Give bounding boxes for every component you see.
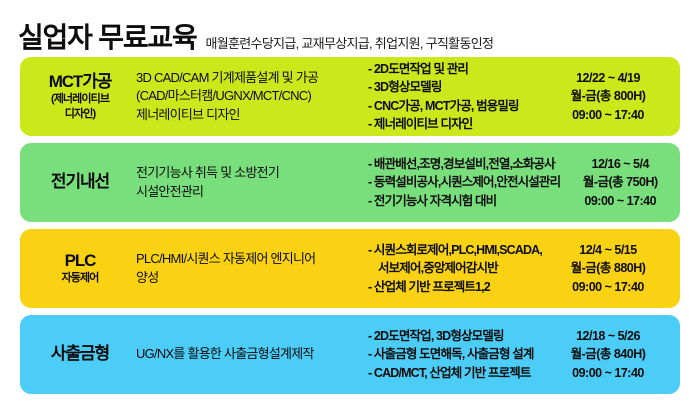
- course-title-block: PLC자동제어: [34, 251, 130, 286]
- course-curriculum-item: - 3D형상모델링: [368, 78, 548, 96]
- course-title-sub: 디자인): [34, 108, 126, 122]
- course-description-line: UG/NX를 활용한 사출금형설계제작: [136, 345, 362, 363]
- course-description-line: 전기기능사 취득 및 소방전기: [136, 164, 362, 182]
- page-title: 실업자 무료교육: [18, 24, 197, 52]
- course-title: 전기내선: [34, 172, 126, 192]
- course-schedule: 12/16 ~ 5/4월-금(총 750H)09:00 ~ 17:40: [560, 155, 680, 209]
- course-description-line: PLC/HMI/시퀀스 자동제어 엔지니어: [136, 250, 362, 268]
- course-title: MCT가공: [34, 72, 126, 92]
- course-description-line: 제너레이티브 디자인: [136, 106, 362, 124]
- course-schedule: 12/22 ~ 4/19월-금(총 800H)09:00 ~ 17:40: [548, 69, 672, 123]
- course-schedule-period: 12/22 ~ 4/19: [548, 69, 668, 87]
- course-schedule-days: 월-금(총 840H): [548, 345, 668, 363]
- course-card[interactable]: MCT가공(제너레이티브디자인)3D CAD/CAM 기계제품설계 및 가공(C…: [20, 57, 680, 136]
- course-title-block: 사출금형: [34, 344, 130, 364]
- course-schedule-days: 월-금(총 750H): [560, 173, 680, 191]
- course-schedule-period: 12/16 ~ 5/4: [560, 155, 680, 173]
- course-curriculum-item: - CNC가공, MCT가공, 범용밀링: [368, 97, 548, 115]
- course-title: 사출금형: [34, 344, 126, 364]
- course-curriculum-item: - 동력설비공사,시퀀스제어,안전시설관리: [368, 173, 560, 191]
- course-schedule-days: 월-금(총 880H): [548, 259, 668, 277]
- course-schedule-time: 09:00 ~ 17:40: [560, 192, 680, 210]
- course-title-block: 전기내선: [34, 172, 130, 192]
- course-schedule-days: 월-금(총 800H): [548, 87, 668, 105]
- course-curriculum-item: - 배관배선,조명,경보설비,전열,소화공사: [368, 155, 560, 173]
- course-curriculum-item: - 2D도면작업 및 관리: [368, 60, 548, 78]
- course-title-sub: 자동제어: [34, 272, 126, 286]
- course-card[interactable]: 사출금형UG/NX를 활용한 사출금형설계제작- 2D도면작업, 3D형상모델링…: [20, 315, 680, 394]
- course-curriculum: - 배관배선,조명,경보설비,전열,소화공사- 동력설비공사,시퀀스제어,안전시…: [362, 155, 560, 209]
- course-description: PLC/HMI/시퀀스 자동제어 엔지니어양성: [130, 250, 362, 287]
- course-schedule-period: 12/18 ~ 5/26: [548, 327, 668, 345]
- course-curriculum: - 2D도면작업 및 관리- 3D형상모델링- CNC가공, MCT가공, 범용…: [362, 60, 548, 133]
- course-card[interactable]: 전기내선전기기능사 취득 및 소방전기시설안전관리- 배관배선,조명,경보설비,…: [20, 143, 680, 222]
- page-header: 실업자 무료교육 매월훈련수당지급, 교재무상지급, 취업지원, 구직활동인정: [18, 12, 688, 52]
- course-schedule-time: 09:00 ~ 17:40: [548, 278, 668, 296]
- course-title-sub: (제너레이티브: [34, 93, 126, 107]
- course-curriculum-item: - 전기기능사 자격시험 대비: [368, 192, 560, 210]
- course-schedule: 12/4 ~ 5/15월-금(총 880H)09:00 ~ 17:40: [548, 241, 672, 295]
- course-schedule-time: 09:00 ~ 17:40: [548, 106, 668, 124]
- course-description: 전기기능사 취득 및 소방전기시설안전관리: [130, 164, 362, 201]
- course-curriculum-item: - 2D도면작업, 3D형상모델링: [368, 327, 548, 345]
- course-description-line: 3D CAD/CAM 기계제품설계 및 가공: [136, 69, 362, 87]
- course-curriculum: - 2D도면작업, 3D형상모델링- 사출금형 도면해독, 사출금형 설계- C…: [362, 327, 548, 381]
- course-curriculum-item: - CAD/MCT, 산업체 기반 프로젝트: [368, 364, 548, 382]
- course-curriculum: - 시퀀스회로제어,PLC,HMI,SCADA,서보제어,중앙제어감시반- 산업…: [362, 241, 548, 295]
- course-card[interactable]: PLC자동제어PLC/HMI/시퀀스 자동제어 엔지니어양성- 시퀀스회로제어,…: [20, 229, 680, 308]
- page-subtitle: 매월훈련수당지급, 교재무상지급, 취업지원, 구직활동인정: [206, 37, 494, 52]
- course-curriculum-item: - 시퀀스회로제어,PLC,HMI,SCADA,: [368, 241, 548, 259]
- course-card-list: MCT가공(제너레이티브디자인)3D CAD/CAM 기계제품설계 및 가공(C…: [20, 57, 680, 401]
- course-curriculum-item: - 산업체 기반 프로젝트1,2: [368, 278, 548, 296]
- course-description: 3D CAD/CAM 기계제품설계 및 가공(CAD/마스터캠/UGNX/MCT…: [130, 69, 362, 124]
- course-curriculum-item: - 제너레이티브 디자인: [368, 115, 548, 133]
- course-schedule-period: 12/4 ~ 5/15: [548, 241, 668, 259]
- course-description-line: 양성: [136, 269, 362, 287]
- course-title-block: MCT가공(제너레이티브디자인): [34, 72, 130, 122]
- course-description-line: (CAD/마스터캠/UGNX/MCT/CNC): [136, 87, 362, 105]
- course-description: UG/NX를 활용한 사출금형설계제작: [130, 345, 362, 363]
- course-curriculum-item: - 사출금형 도면해독, 사출금형 설계: [368, 345, 548, 363]
- course-title: PLC: [34, 251, 126, 271]
- course-description-line: 시설안전관리: [136, 183, 362, 201]
- course-curriculum-item: 서보제어,중앙제어감시반: [368, 259, 548, 277]
- course-schedule: 12/18 ~ 5/26월-금(총 840H)09:00 ~ 17:40: [548, 327, 672, 381]
- course-schedule-time: 09:00 ~ 17:40: [548, 364, 668, 382]
